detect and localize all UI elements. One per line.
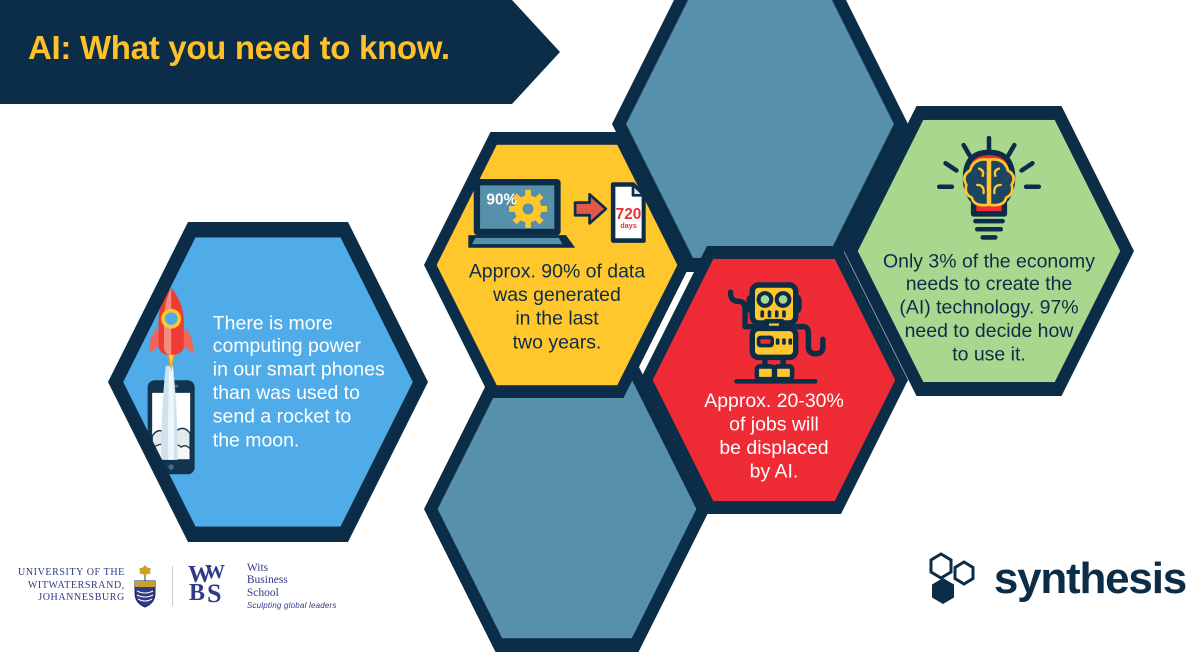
hexagon-computing-power-caption: There is more computing power in our sma… [207,312,404,452]
hexagon-computing-power-inner: There is more computing power in our sma… [123,237,413,527]
wits-line-3: JOHANNESBURG [18,592,125,605]
document-unit-label: days [620,221,637,230]
title-banner: AI: What you need to know. [0,0,560,104]
three-hexagon-logo-icon [928,552,982,606]
laptop-percent-label: 90% [486,192,517,209]
hexagon-computing-power: There is more computing power in our sma… [108,222,428,542]
hexagon-data-generated-caption: Approx. 90% of data was generated in the… [463,261,650,354]
hexagon-jobs-displaced-inner: Approx. 20-30% of jobs will be displaced… [653,259,896,502]
hexagon-decorative-bottom-inner [438,380,697,639]
wbs-monogram-icon: W W B S [187,562,239,606]
wbs-logo-text: Wits Business School [247,562,337,600]
right-arrow-icon [575,195,606,224]
infographic-canvas: AI: What you need to know. [0,0,1200,627]
document-icon: 720 days [613,185,644,241]
wbs-tagline: Sculpting global leaders [247,601,337,610]
svg-text:B: B [189,580,205,606]
brain-lightbulb-icon [932,136,1046,246]
rocket-launching-from-phone-icon [131,282,207,481]
svg-text:S: S [207,579,221,606]
wits-line-1: UNIVERSITY OF THE [18,567,125,580]
wits-university-logo-text: UNIVERSITY OF THE WITWATERSRAND, JOHANNE… [18,567,125,605]
wbs-line-2: Business [247,574,337,587]
wits-line-2: WITWATERSRAND, [18,580,125,593]
synthesis-brand: synthesis [928,552,1186,606]
robot-icon [718,276,830,385]
page-title: AI: What you need to know. [28,26,528,70]
wits-university-logo: UNIVERSITY OF THE WITWATERSRAND, JOHANNE… [18,564,158,608]
footer-partner-logos: UNIVERSITY OF THE WITWATERSRAND, JOHANNE… [18,558,337,614]
wits-business-school-logo: W W B S Wits Business School Sculpting g… [187,562,337,611]
wbs-line-3: School [247,587,337,600]
hexagon-data-generated-inner: 90% [437,145,678,386]
footer-logo-divider [172,566,173,606]
hexagon-economy-share-caption: Only 3% of the economy needs to create t… [878,250,1101,367]
wbs-line-1: Wits [247,562,337,575]
wits-crest-icon [132,564,158,608]
hexagon-jobs-displaced-caption: Approx. 20-30% of jobs will be displaced… [699,390,849,483]
laptop-gear-to-document-icon: 90% [468,176,645,254]
hexagon-economy-share-inner: Only 3% of the economy needs to create t… [858,120,1120,382]
synthesis-wordmark: synthesis [994,557,1186,601]
